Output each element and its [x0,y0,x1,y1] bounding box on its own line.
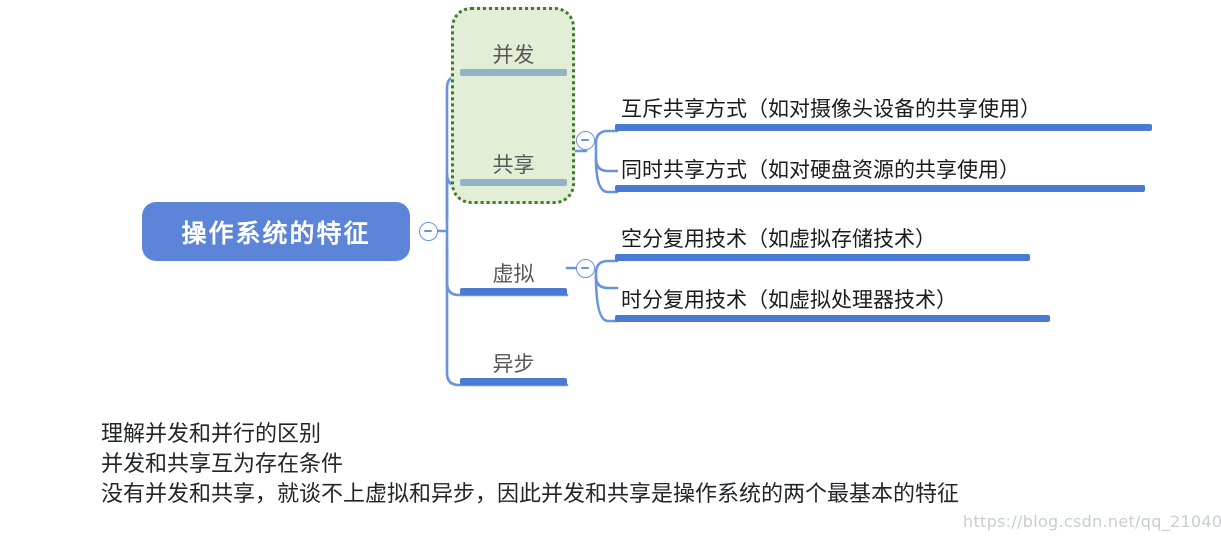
branch-node-yibu-underline [460,378,567,385]
watermark-text: https://blog.csdn.net/qq_21040559 [963,512,1221,531]
note-line-3: 没有并发和共享，就谈不上虚拟和异步，因此并发和共享是操作系统的两个最基本的特征 [101,480,1211,510]
branch-gongxiang-collapse-toggle-icon[interactable] [576,131,595,150]
leaf-node-kongfenfuyong-underline [615,254,1030,261]
leaf-node-hucigongxiang-label: 互斥共享方式（如对摄像头设备的共享使用） [621,93,1041,123]
link-xuni-fan [596,261,617,288]
leaf-node-kongfenfuyong-label: 空分复用技术（如虚拟存储技术） [621,223,936,253]
leaf-node-tongshigongxiang-underline [615,185,1145,192]
branch-node-gongxiang[interactable]: 共享 [460,138,567,186]
notes-block: 理解并发和并行的区别 并发和共享互为存在条件 没有并发和共享，就谈不上虚拟和异步… [101,420,1211,510]
branch-node-bingfa-label: 并发 [460,39,567,69]
branch-node-bingfa-underline [460,69,567,76]
root-node-label: 操作系统的特征 [181,214,370,250]
mindmap-canvas: 操作系统的特征 并发 共享 虚拟 异步 互斥共享方式（如对摄像头设备的共享使用）… [0,0,1221,541]
note-line-1: 理解并发和并行的区别 [101,420,1211,450]
note-line-2: 并发和共享互为存在条件 [101,450,1211,480]
branch-node-xuni-underline [460,288,567,295]
branch-node-xuni-label: 虚拟 [460,258,567,288]
branch-node-gongxiang-label: 共享 [460,149,567,179]
leaf-node-tongshigongxiang-label: 同时共享方式（如对硬盘资源的共享使用） [621,154,1020,184]
branch-node-bingfa[interactable]: 并发 [460,28,567,76]
root-collapse-toggle-icon[interactable] [419,222,438,241]
root-node[interactable]: 操作系统的特征 [142,202,410,261]
link-xuni-child2 [596,276,617,321]
leaf-node-hucigongxiang-underline [615,124,1152,131]
link-gongxiang-fan [596,131,617,171]
leaf-node-tongshigongxiang[interactable]: 同时共享方式（如对硬盘资源的共享使用） [615,151,1145,192]
branch-node-xuni[interactable]: 虚拟 [460,247,567,295]
branch-node-yibu[interactable]: 异步 [460,337,567,385]
branch-node-gongxiang-underline [460,179,567,186]
leaf-node-kongfenfuyong[interactable]: 空分复用技术（如虚拟存储技术） [615,220,1030,261]
branch-xuni-collapse-toggle-icon[interactable] [576,259,595,278]
leaf-node-shifenfuyong-label: 时分复用技术（如虚拟处理器技术） [621,284,957,314]
leaf-node-shifenfuyong[interactable]: 时分复用技术（如虚拟处理器技术） [615,281,1050,322]
leaf-node-shifenfuyong-underline [615,315,1050,322]
leaf-node-hucigongxiang[interactable]: 互斥共享方式（如对摄像头设备的共享使用） [615,90,1152,131]
branch-node-yibu-label: 异步 [460,348,567,378]
link-gongxiang-child2 [596,159,617,192]
